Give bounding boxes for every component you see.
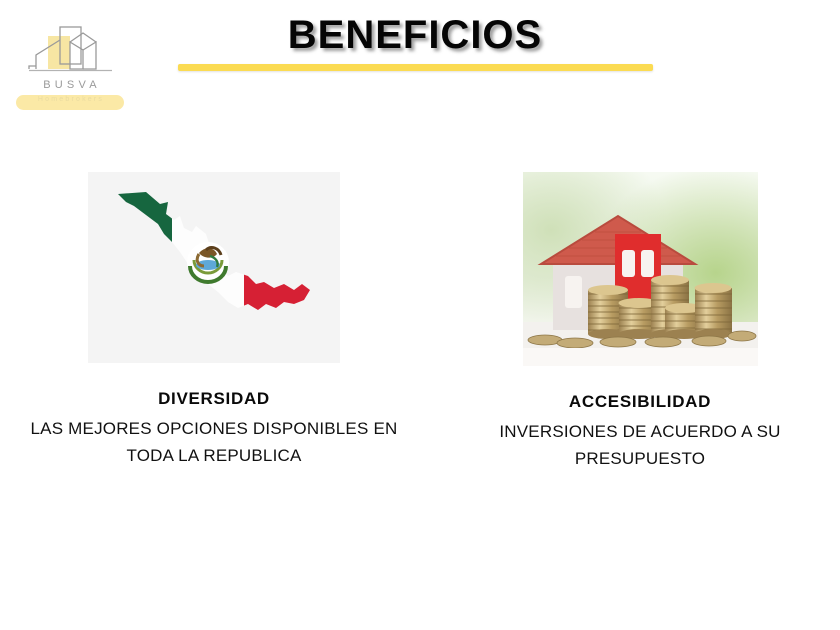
benefit-caption-diversidad: DIVERSIDAD LAS MEJORES OPCIONES DISPONIB…: [14, 388, 414, 470]
benefit-card-diversidad: DIVERSIDAD LAS MEJORES OPCIONES DISPONIB…: [14, 168, 414, 470]
benefit-description: LAS MEJORES OPCIONES DISPONIBLES EN TODA…: [14, 415, 414, 469]
logo-wordmark: BUSVA: [14, 79, 126, 91]
mexico-map-flag-image: [88, 172, 340, 363]
title-underline-rule: [178, 64, 653, 71]
benefit-description-line-2: PRESUPUESTO: [575, 449, 705, 468]
benefit-title: DIVERSIDAD: [14, 388, 414, 409]
benefit-description-line-1: INVERSIONES DE ACUERDO A SU: [499, 422, 780, 441]
house-with-coin-stacks-image: [523, 172, 758, 366]
busva-logo: BUSVA Homebrokers: [14, 22, 126, 114]
logo-tagline: Homebrokers: [16, 96, 124, 103]
benefit-description: INVERSIONES DE ACUERDO A SU PRESUPUESTO: [440, 418, 840, 472]
page-title: BENEFICIOS: [180, 13, 650, 58]
logo-tagline-banner: Homebrokers: [16, 95, 124, 110]
benefit-caption-accesibilidad: ACCESIBILIDAD INVERSIONES DE ACUERDO A S…: [440, 391, 840, 473]
benefit-card-accesibilidad: ACCESIBILIDAD INVERSIONES DE ACUERDO A S…: [440, 168, 840, 473]
buildings-line-art-icon: [14, 22, 126, 80]
benefit-title: ACCESIBILIDAD: [440, 391, 840, 412]
benefit-description-line-1: LAS MEJORES OPCIONES DISPONIBLES: [31, 419, 369, 438]
